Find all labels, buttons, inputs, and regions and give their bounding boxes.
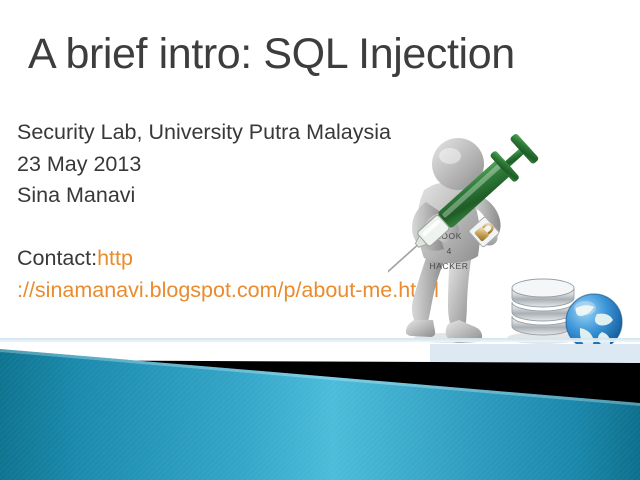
body-line-author: Sina Manavi <box>17 180 537 212</box>
slide-title: A brief intro: SQL Injection <box>28 24 612 84</box>
body-blank-line <box>17 212 537 244</box>
contact-link-scheme[interactable]: http <box>97 246 133 270</box>
contact-link-url[interactable]: ://sinamanavi.blogspot.com/p/about-me.ht… <box>17 275 537 307</box>
decorative-hairline <box>0 338 640 342</box>
presentation-slide: A brief intro: SQL Injection Security La… <box>0 0 640 480</box>
contact-line: Contact:http <box>17 243 537 275</box>
contact-label: Contact: <box>17 246 97 270</box>
decorative-lightblue-strip <box>430 344 640 364</box>
body-line-date: 23 May 2013 <box>17 149 537 181</box>
body-line-affiliation: Security Lab, University Putra Malaysia <box>17 117 537 149</box>
slide-body-text: Security Lab, University Putra Malaysia … <box>17 117 537 306</box>
